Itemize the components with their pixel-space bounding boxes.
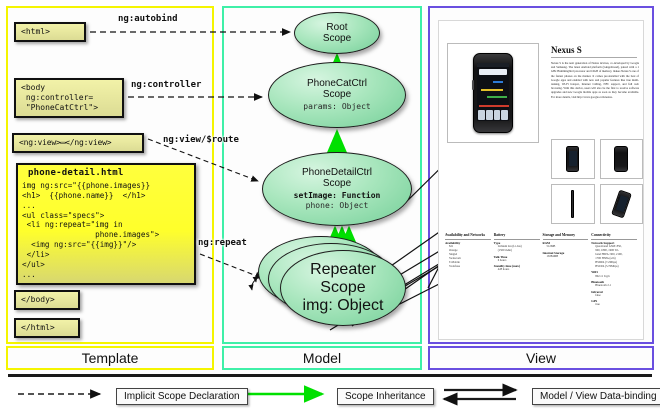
specs-row-value: 512MB — [543, 245, 589, 249]
phone-illustration — [473, 53, 513, 133]
legend-item-implicit: Implicit Scope Declaration — [16, 388, 248, 405]
thumbnail-item[interactable] — [551, 139, 595, 179]
specs-row-value: 16384MB — [543, 255, 589, 259]
scope-phonecatctrl: PhoneCatCtrlScope params: Object — [268, 62, 406, 128]
scope-root: RootScope — [294, 12, 380, 54]
legend-label-implicit: Implicit Scope Declaration — [116, 388, 248, 405]
detail-card-code: img ng:src="{{phone.images}} <h1> {{phon… — [18, 180, 194, 283]
scope-phonedetailctrl-attrs: setImage: Function phone: Object — [294, 191, 381, 211]
specs-column: Availability and NetworksAvailabilityM1O… — [445, 233, 491, 307]
scope-attr: phone: Object — [294, 201, 381, 211]
phone-edge-icon — [571, 190, 574, 218]
scope-attr: params: Object — [303, 102, 370, 112]
phone-side-button — [472, 80, 474, 90]
phone-accent-line-blue — [493, 81, 503, 83]
view-thumbnail-grid — [551, 139, 643, 224]
specs-row-value: (1500 mAh) — [494, 249, 540, 253]
view-title-rule — [551, 57, 637, 58]
phone-search-widget — [479, 69, 507, 75]
specs-column-header: Battery — [494, 233, 540, 240]
scope-phonedetailctrl: PhoneDetailCtrlScope setImage: Function … — [262, 152, 412, 226]
specs-column: Storage and MemoryRAM512MBInternal Stora… — [543, 233, 589, 307]
specs-row-value: 802.11 b/g/n — [591, 275, 637, 279]
scope-phonecatctrl-attrs: params: Object — [303, 102, 370, 112]
thumbnail-item[interactable] — [600, 139, 644, 179]
legend-divider — [8, 374, 652, 377]
thumbnail-item[interactable] — [551, 184, 595, 224]
scope-attr: img: Object — [303, 297, 384, 315]
connector-label-autobind: ng:autobind — [118, 14, 178, 24]
phone-back-icon — [614, 146, 628, 172]
scope-attr: setImage: Function — [294, 191, 381, 201]
specs-row-value: 428 hours — [494, 268, 540, 272]
connector-label-repeat: ng:repeat — [198, 238, 247, 248]
phone-statusbar — [477, 63, 509, 67]
detail-card-filename: phone-detail.html — [18, 165, 194, 180]
specs-row-value: Vodafone — [445, 265, 491, 269]
phone-accent-line-green — [487, 96, 507, 98]
code-tag-body-open: <body ng:controller= "PhoneCatCtrl"> — [14, 78, 124, 118]
legend-label-databind: Model / View Data-binding — [532, 388, 660, 405]
specs-row-value: HSUPA (5.76Mbps) — [591, 265, 637, 269]
legend-item-inheritance: Scope Inheritance — [245, 388, 434, 405]
panel-view-label: View — [428, 346, 654, 370]
legend-item-databind: Model / View Data-binding — [442, 388, 660, 405]
phone-front-icon — [566, 146, 579, 172]
phone-accent-line-yellow — [481, 89, 503, 91]
phone-screen — [477, 63, 509, 121]
scope-root-name: RootScope — [323, 22, 351, 44]
code-tag-body-close: </body> — [14, 290, 80, 310]
scope-repeater: RepeaterScope img: Object — [280, 250, 406, 326]
specs-row-value: true — [591, 303, 637, 307]
phone-dock — [478, 110, 508, 120]
template-detail-card: phone-detail.html img ng:src="{{phone.im… — [16, 163, 196, 285]
legend-label-inheritance: Scope Inheritance — [337, 388, 434, 405]
specs-column: BatteryTypeLithium Ion (Li-Ion)(1500 mAh… — [494, 233, 540, 307]
hero-image-frame — [447, 43, 539, 143]
code-tag-html-close: </html> — [14, 318, 80, 338]
specs-row-value: Bluetooth 2.1 — [591, 284, 637, 288]
panel-template-label: Template — [6, 346, 214, 370]
specs-row-value: 6 hours — [494, 259, 540, 263]
code-tag-html-open: <html> — [14, 22, 86, 42]
specs-column-header: Storage and Memory — [543, 233, 589, 240]
scope-repeater-name: RepeaterScope — [310, 261, 376, 297]
scope-phonecatctrl-name: PhoneCatCtrlScope — [307, 78, 367, 100]
scope-phonedetailctrl-name: PhoneDetailCtrlScope — [302, 167, 372, 189]
view-phone-description: Nexus S is the next generation of Nexus … — [551, 61, 639, 99]
phone-accent-line-red — [479, 105, 509, 107]
specs-column: ConnectivityNetwork SupportQuad-band GSM… — [591, 233, 637, 307]
code-tag-ng-view: <ng:view>▭</ng:view> — [12, 133, 144, 153]
panel-model-label: Model — [222, 346, 422, 370]
view-specs-table: Availability and NetworksAvailabilityM1O… — [445, 233, 637, 307]
specs-column-header: Availability and Networks — [445, 233, 491, 240]
thumbnail-item[interactable] — [600, 184, 644, 224]
view-phone-title: Nexus S — [551, 45, 582, 55]
specs-row-value: false — [591, 294, 637, 298]
specs-column-header: Connectivity — [591, 233, 637, 240]
scope-repeater-attrs: img: Object — [303, 297, 384, 315]
connector-label-controller: ng:controller — [131, 80, 201, 90]
diagram-canvas: Template Model View <html> <body ng:cont… — [0, 0, 660, 420]
connector-label-route: ng:view/$route — [163, 135, 239, 145]
view-rendered-page: Nexus S Nexus S is the next generation o… — [438, 20, 644, 340]
phone-angled-icon — [611, 190, 632, 219]
